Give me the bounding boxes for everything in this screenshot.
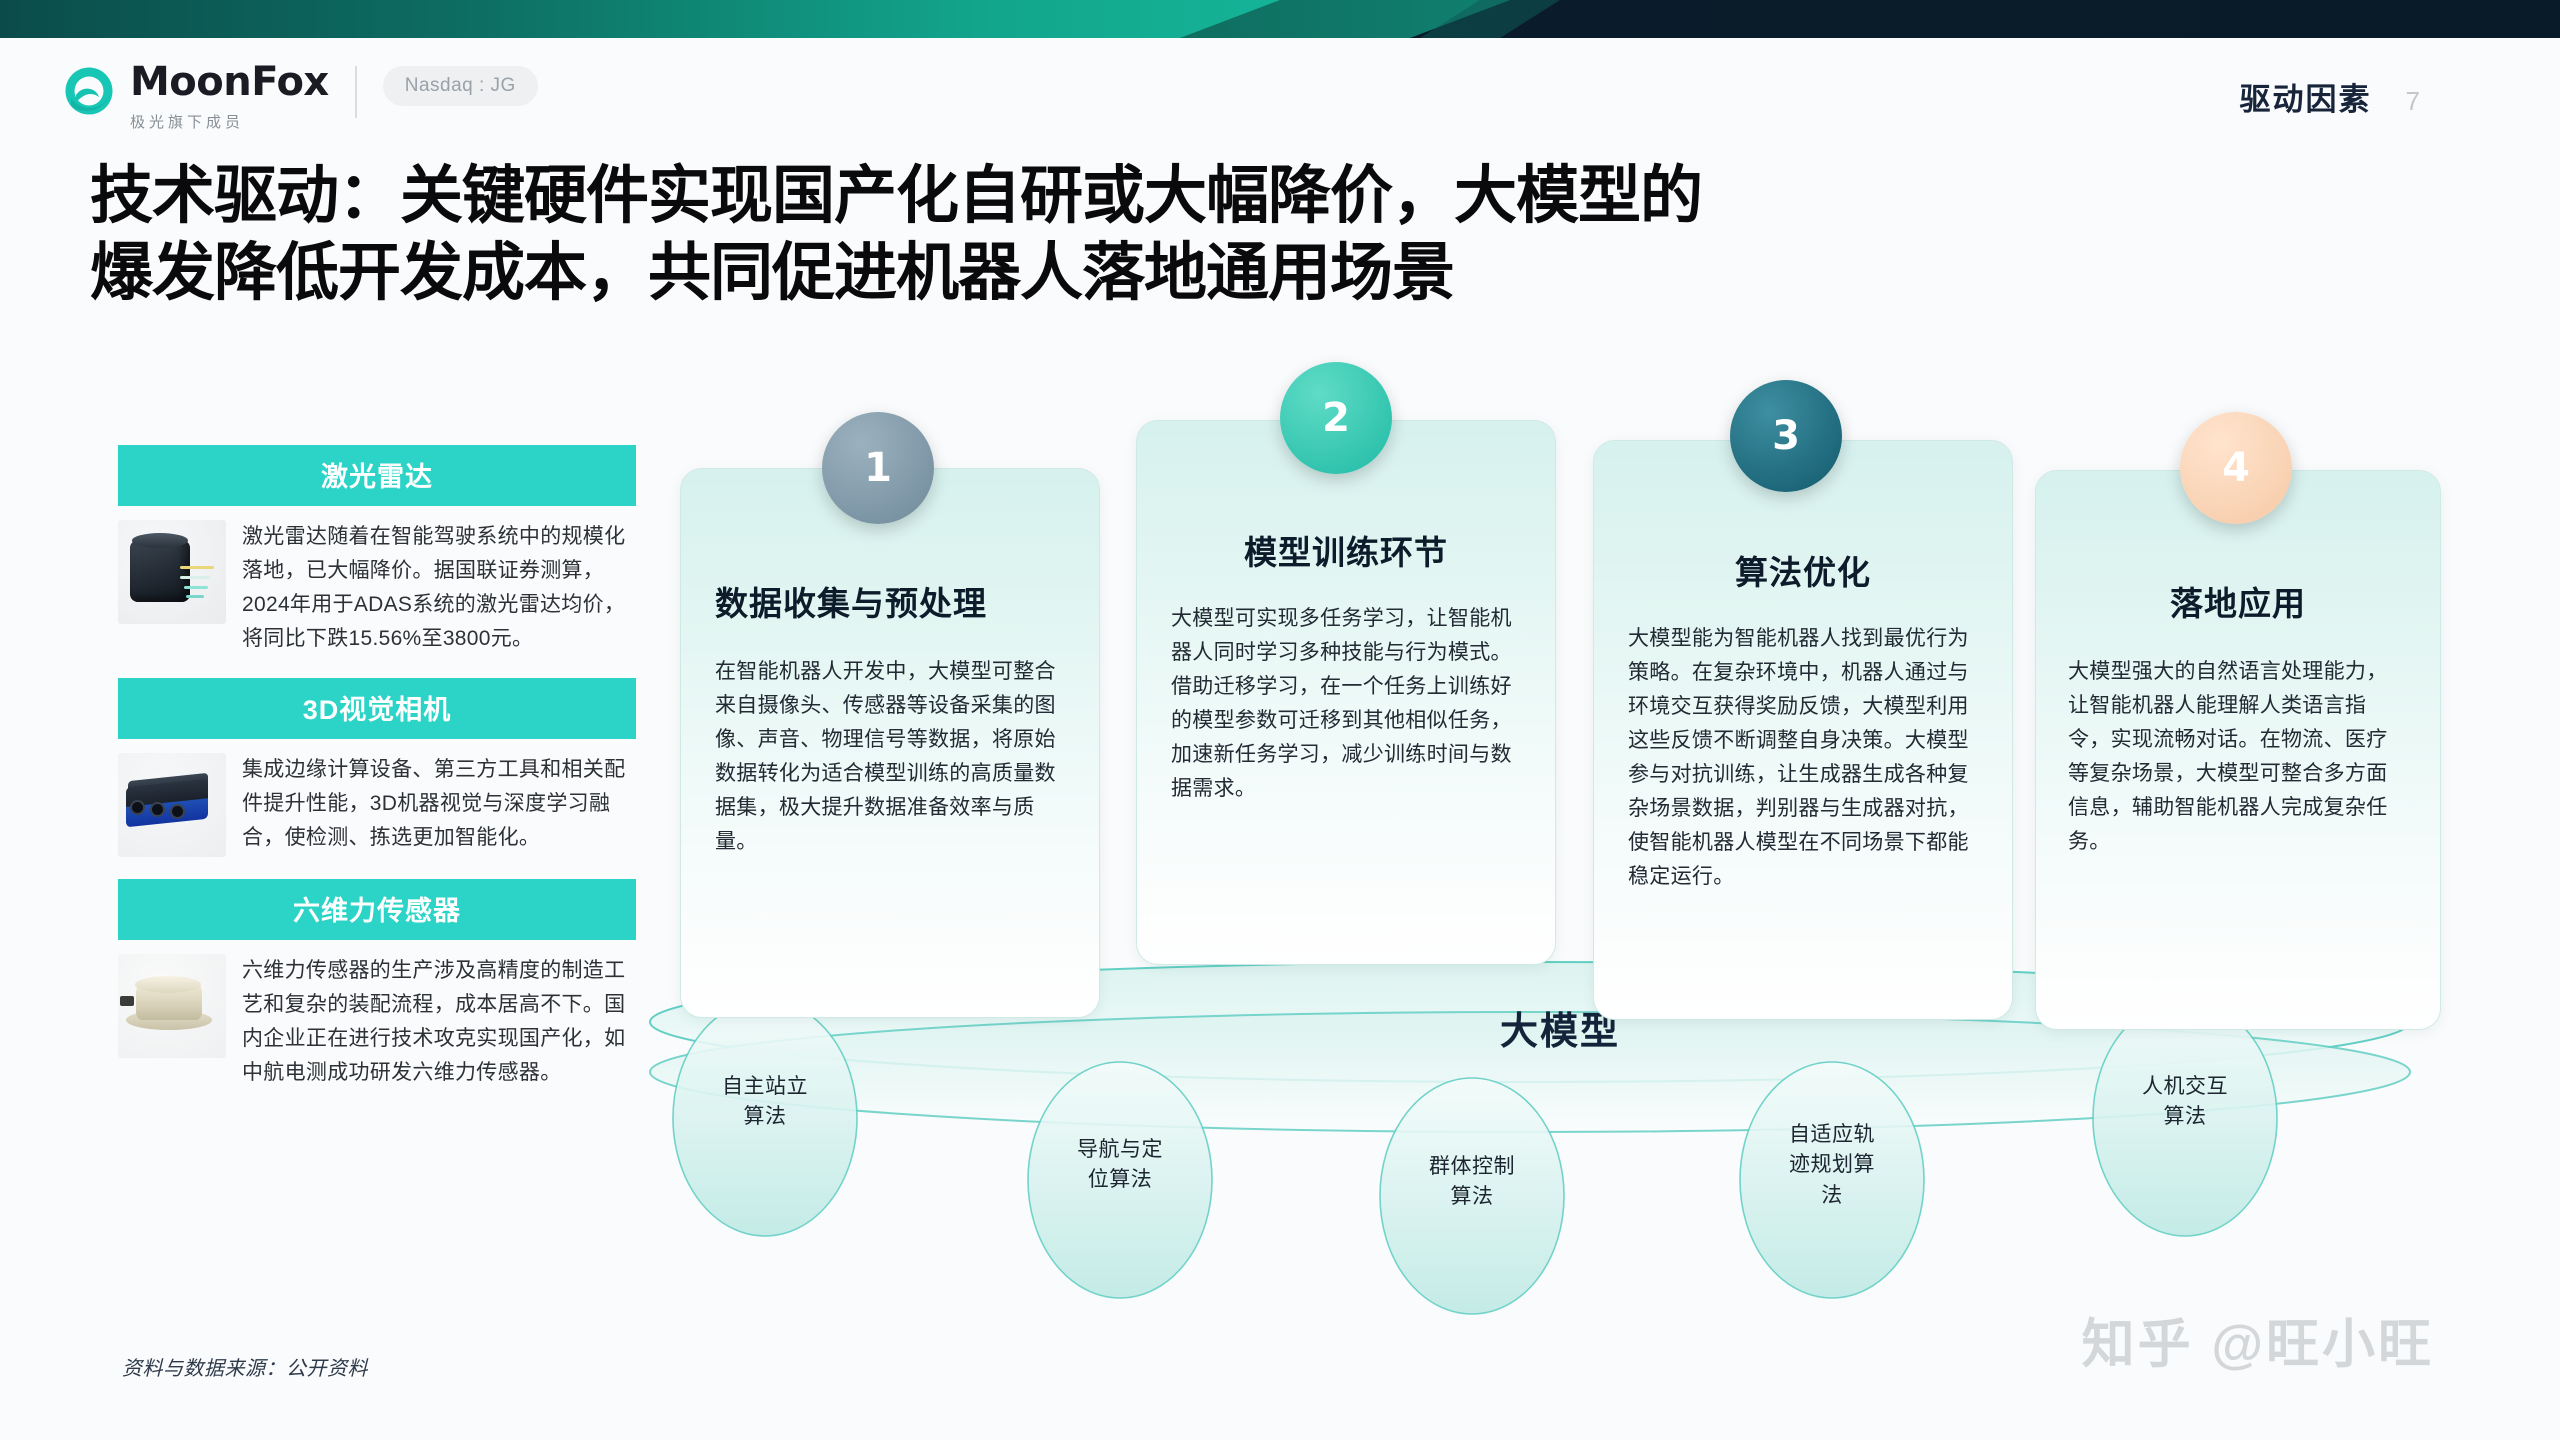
step-title: 落地应用 xyxy=(2068,577,2408,625)
step-title: 算法优化 xyxy=(1628,546,1978,594)
algo-line: 算法 xyxy=(680,1102,850,1132)
sidebar-card-title: 3D视觉相机 xyxy=(118,678,636,739)
algo-line: 位算法 xyxy=(1035,1165,1205,1195)
algo-line: 群体控制 xyxy=(1387,1152,1557,1182)
step-card-4[interactable]: 落地应用 大模型强大的自然语言处理能力，让智能机器人能理解人类语言指令，实现流畅… xyxy=(2035,470,2441,1030)
step-badge-4: 4 xyxy=(2180,412,2292,524)
watermark: 知乎 @旺小旺 xyxy=(2082,1302,2434,1378)
algo-line: 算法 xyxy=(1387,1182,1557,1212)
brand-logo: MoonFox 极光旗下成员 Nasdaq : JG xyxy=(62,62,538,132)
algo-line: 法 xyxy=(1747,1181,1917,1211)
algorithm-label-4: 自适应轨 迹规划算 法 xyxy=(1747,1120,1917,1211)
step-body: 大模型能为智能机器人找到最优行为策略。在复杂环境中，机器人通过与环境交互获得奖励… xyxy=(1628,622,1978,894)
algorithm-label-2: 导航与定 位算法 xyxy=(1035,1135,1205,1196)
step-card-1[interactable]: 数据收集与预处理 在智能机器人开发中，大模型可整合来自摄像头、传感器等设备采集的… xyxy=(680,468,1100,1018)
title-line-2: 爆发降低开发成本，共同促进机器人落地通用场景 xyxy=(90,235,2390,312)
title-line-1: 技术驱动：关键硬件实现国产化自研或大幅降价，大模型的 xyxy=(90,158,2390,235)
step-card-3[interactable]: 算法优化 大模型能为智能机器人找到最优行为策略。在复杂环境中，机器人通过与环境交… xyxy=(1593,440,2013,1020)
sidebar-card-body: 集成边缘计算设备、第三方工具和相关配件提升性能，3D机器视觉与深度学习融合，使检… xyxy=(242,753,632,857)
nasdaq-badge: Nasdaq : JG xyxy=(383,66,538,106)
step-body: 大模型强大的自然语言处理能力，让智能机器人能理解人类语言指令，实现流畅对话。在物… xyxy=(2068,655,2408,859)
step-badge-1: 1 xyxy=(822,412,934,524)
step-badge-3: 3 xyxy=(1730,380,1842,492)
section-category: 驱动因素 xyxy=(2240,74,2372,119)
force-sensor-image xyxy=(118,954,226,1058)
sidebar-card-title: 六维力传感器 xyxy=(118,879,636,940)
sidebar-card-force-sensor: 六维力传感器 六维力传感器的生产涉及高精度的制造工艺和复杂的装配流程，成本居高不… xyxy=(118,879,636,1090)
slide-root: MoonFox 极光旗下成员 Nasdaq : JG 驱动因素 7 技术驱动：关… xyxy=(0,0,2560,1440)
step-number: 1 xyxy=(864,445,892,491)
sidebar-card-3d-camera: 3D视觉相机 集成边缘计算设备、第三方工具和相关配件提升性能，3D机器视觉与深度… xyxy=(118,678,636,857)
algo-line: 自适应轨 xyxy=(1747,1120,1917,1150)
step-card-2[interactable]: 模型训练环节 大模型可实现多任务学习，让智能机器人同时学习多种技能与行为模式。借… xyxy=(1136,420,1556,965)
header-right: 驱动因素 7 xyxy=(2240,74,2420,119)
algorithm-label-1: 自主站立 算法 xyxy=(680,1072,850,1133)
algorithm-label-3: 群体控制 算法 xyxy=(1387,1152,1557,1213)
algo-line: 人机交互 xyxy=(2100,1072,2270,1102)
algorithm-label-5: 人机交互 算法 xyxy=(2100,1072,2270,1133)
step-number: 2 xyxy=(1322,395,1350,441)
step-title: 模型训练环节 xyxy=(1171,526,1521,574)
moonfox-logo-icon xyxy=(62,64,116,118)
sidebar-card-body: 激光雷达随着在智能驾驶系统中的规模化落地，已大幅降价。据国联证券测算，2024年… xyxy=(242,520,632,656)
step-body: 大模型可实现多任务学习，让智能机器人同时学习多种技能与行为模式。借助迁移学习，在… xyxy=(1171,602,1521,806)
algo-line: 自主站立 xyxy=(680,1072,850,1102)
algo-line: 迹规划算 xyxy=(1747,1150,1917,1180)
logo-wordmark: MoonFox xyxy=(130,62,329,102)
sidebar-cards: 激光雷达 激光雷达随着在智能驾驶系统中的规模化落地，已大幅降价。据国联证券测算，… xyxy=(118,445,636,1112)
step-body: 在智能机器人开发中，大模型可整合来自摄像头、传感器等设备采集的图像、声音、物理信… xyxy=(715,655,1065,859)
sidebar-card-body: 六维力传感器的生产涉及高精度的制造工艺和复杂的装配流程，成本居高不下。国内企业正… xyxy=(242,954,632,1090)
algo-line: 导航与定 xyxy=(1035,1135,1205,1165)
logo-subtitle: 极光旗下成员 xyxy=(130,111,329,132)
algo-line: 算法 xyxy=(2100,1102,2270,1132)
source-note: 资料与数据来源：公开资料 xyxy=(122,1352,368,1381)
top-banner xyxy=(0,0,2560,38)
lidar-sensor-image xyxy=(118,520,226,624)
logo-divider xyxy=(355,66,357,118)
page-number: 7 xyxy=(2406,86,2420,117)
banner-teal-block-1 xyxy=(0,0,1360,38)
page-title: 技术驱动：关键硬件实现国产化自研或大幅降价，大模型的 爆发降低开发成本，共同促进… xyxy=(90,158,2390,312)
step-title: 数据收集与预处理 xyxy=(715,577,1065,625)
step-number: 4 xyxy=(2222,445,2250,491)
3d-camera-image xyxy=(118,753,226,857)
step-number: 3 xyxy=(1772,413,1800,459)
step-badge-2: 2 xyxy=(1280,362,1392,474)
sidebar-card-title: 激光雷达 xyxy=(118,445,636,506)
sidebar-card-lidar: 激光雷达 激光雷达随着在智能驾驶系统中的规模化落地，已大幅降价。据国联证券测算，… xyxy=(118,445,636,656)
